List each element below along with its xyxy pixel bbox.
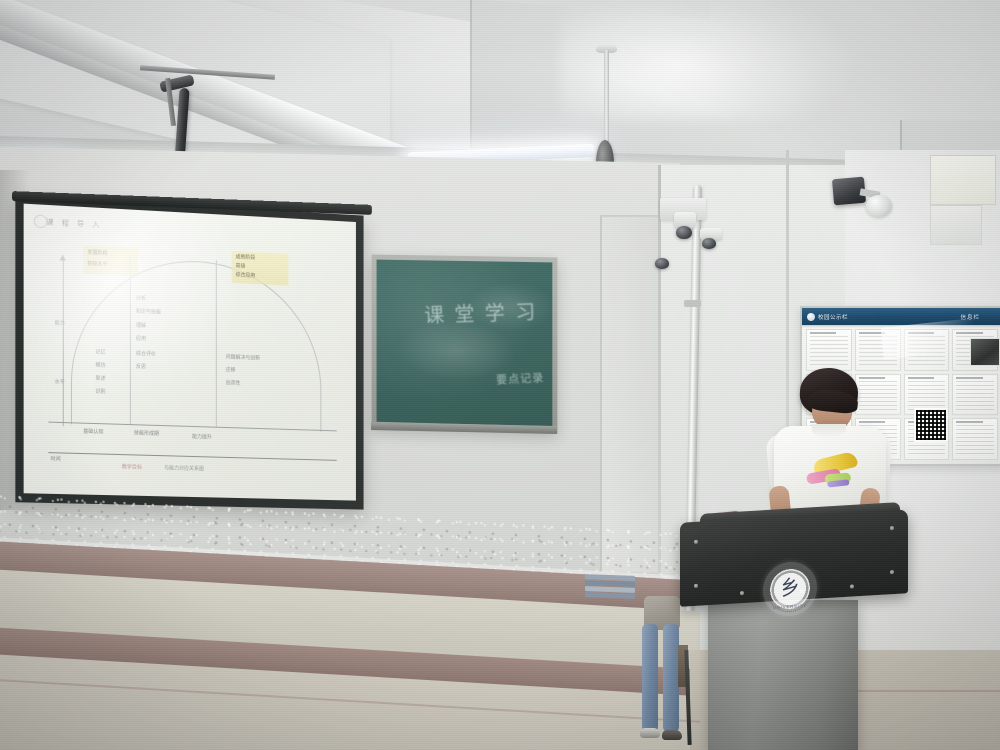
x-axis-category: 基础认知	[83, 428, 103, 436]
chalk-text-sub: 要点记录	[496, 369, 545, 387]
dome-surveillance-camera-icon	[676, 226, 692, 239]
institution-logo-icon	[807, 313, 815, 321]
highlight-left-line2: 初级水平	[87, 260, 107, 269]
slide-mid-item: 理解	[136, 322, 146, 330]
dome-light-icon	[866, 195, 892, 217]
wall-notice-small	[930, 155, 996, 205]
highlight-right-line3: 综合应用	[236, 271, 256, 280]
slide-mid-item: 综合评价	[136, 350, 156, 359]
blackboard: 课 堂 学 习 要点记录	[372, 255, 558, 434]
conduit-clip	[684, 300, 701, 307]
slide-left-item: 记忆	[95, 348, 105, 356]
person-collar	[812, 424, 846, 437]
y-axis-label: 能力	[55, 319, 65, 327]
stacked-books	[585, 574, 635, 602]
projected-slide: 课 程 导 入 能力 水平 发展阶段 初级水平 成熟阶段 高级 综合应用 分析 …	[24, 204, 356, 501]
x-axis-category: 技能形成期	[134, 429, 159, 437]
slide-mid-item: 分析	[136, 294, 146, 303]
podium-body-shading	[708, 600, 858, 750]
slide-mid-item: 反思	[136, 363, 146, 371]
slide-title: 课 程 导 入	[46, 217, 102, 230]
emblem-mark: 乡	[779, 575, 802, 599]
pendant-rod	[604, 50, 609, 150]
projection-screen[interactable]: 课 程 导 入 能力 水平 发展阶段 初级水平 成熟阶段 高级 综合应用 分析 …	[15, 196, 363, 510]
slide-mid-item: 知识与技能	[136, 307, 161, 316]
slide-right-item: 问题解决与创新	[226, 353, 260, 362]
door-frame	[600, 215, 664, 572]
notice-document[interactable]	[806, 329, 852, 371]
x-axis-category: 能力提升	[192, 433, 212, 441]
footer-axis-label: 时间	[50, 455, 60, 462]
chalk-text-main: 课 堂 学 习	[423, 295, 538, 328]
divider-line	[130, 256, 131, 425]
highlight-left-line1: 发展阶段	[87, 249, 107, 258]
y-axis-label: 水平	[55, 378, 65, 385]
notice-board-title: 校园公示栏	[818, 313, 848, 321]
secondary-axis	[48, 452, 336, 461]
slide-mid-item: 应用	[136, 335, 146, 343]
qr-code-icon[interactable]	[914, 408, 948, 442]
slide-left-item: 识别	[95, 388, 105, 396]
wall-panel	[930, 205, 982, 245]
highlight-right-line1: 成熟阶段	[236, 253, 256, 262]
y-axis	[63, 259, 64, 427]
slide-right-item: 创造性	[226, 379, 241, 387]
notice-document[interactable]	[952, 374, 998, 416]
graphic-violet-shape	[827, 479, 850, 487]
classroom-photo: 课 程 导 入 能力 水平 发展阶段 初级水平 成熟阶段 高级 综合应用 分析 …	[0, 0, 1000, 750]
slide-left-item: 模仿	[95, 361, 105, 369]
blackboard-surface: 课 堂 学 习 要点记录	[377, 260, 553, 427]
emblem-text: UNIVERSITY	[773, 603, 807, 610]
notice-document[interactable]	[952, 418, 998, 460]
footnote-red: 教学目标	[122, 463, 142, 471]
bullet-surveillance-camera-icon	[702, 238, 716, 249]
slide-left-item: 复述	[95, 374, 105, 382]
bullet-surveillance-camera-icon	[655, 258, 669, 269]
tshirt-graphic	[804, 451, 859, 490]
footnote-grey: 与能力对应关系图	[164, 464, 204, 472]
slide-right-item: 迁移	[226, 366, 236, 374]
divider-line	[216, 260, 217, 428]
highlight-right-line2: 高级	[236, 262, 246, 270]
